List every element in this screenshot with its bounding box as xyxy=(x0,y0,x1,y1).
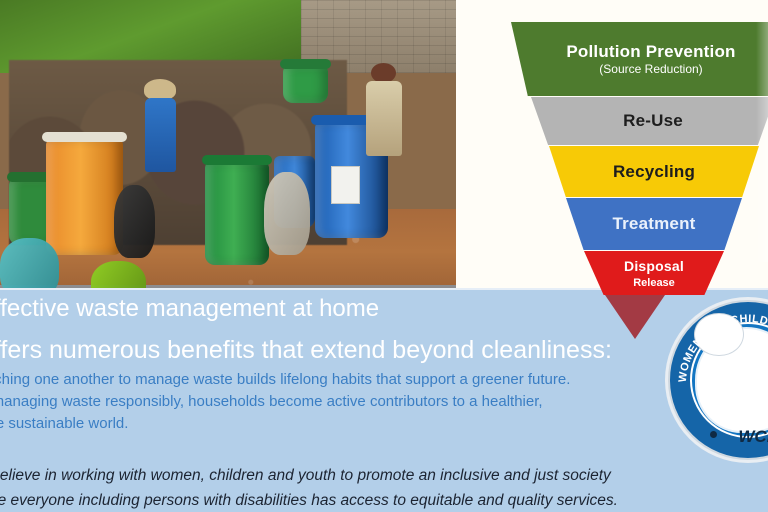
logo-bullet-dot xyxy=(710,431,717,438)
headline-line-2: offers numerous benefits that extend bey… xyxy=(0,333,680,367)
photo-person-torso xyxy=(145,98,176,172)
wch-organisation-logo: HEALTH WITH DIGNITY WOMEN AND CHILDREN H… xyxy=(668,300,768,460)
pyramid-level-label: Pollution Prevention xyxy=(566,42,735,62)
pyramid-level-recycling: Recycling xyxy=(549,146,759,197)
photo-person-hat xyxy=(144,79,176,99)
svg-text:WOMEN AND CHILDREN HEALTH: WOMEN AND CHILDREN HEALTH xyxy=(677,313,768,383)
waste-dump-photo xyxy=(0,0,456,331)
slide-canvas: Pollution Prevention (Source Reduction) … xyxy=(0,0,768,512)
photo-bin-green-mid xyxy=(205,162,269,265)
pyramid-level-disposal: Disposal Release xyxy=(584,251,724,295)
mission-statement: We believe in working with women, childr… xyxy=(0,463,724,512)
logo-acronym: WCH xyxy=(738,427,768,447)
photo-bin-green-top xyxy=(283,66,329,102)
pyramid-level-label: Disposal xyxy=(624,256,684,276)
mission-line-1: We believe in working with women, childr… xyxy=(0,463,724,488)
pyramid-level-treatment: Treatment xyxy=(566,198,742,250)
photo-bin-lid xyxy=(202,155,272,165)
photo-person-head xyxy=(371,63,396,83)
photo-bin-orange xyxy=(46,139,124,255)
photo-bin-label-sticker xyxy=(331,166,360,204)
mission-line-2: where everyone including persons with di… xyxy=(0,488,724,512)
benefits-line-2: By managing waste responsibly, household… xyxy=(0,391,710,413)
photo-bag-black xyxy=(114,185,155,258)
photo-bin-lid xyxy=(42,132,127,142)
logo-ring-text: WOMEN AND CHILDREN HEALTH xyxy=(677,313,768,383)
pyramid-level-sublabel: (Source Reduction) xyxy=(599,62,702,77)
photo-bag-grey xyxy=(264,172,310,255)
pyramid-level-label: Re-Use xyxy=(623,111,683,131)
pyramid-level-sublabel: Release xyxy=(633,276,675,291)
pyramid-level-label: Treatment xyxy=(612,214,695,234)
pyramid-level-label: Recycling xyxy=(613,162,695,182)
waste-hierarchy-pyramid: Pollution Prevention (Source Reduction) … xyxy=(456,0,768,295)
benefits-body-text: Teaching one another to manage waste bui… xyxy=(0,369,710,435)
photo-person-right xyxy=(365,63,406,156)
benefits-line-3: more sustainable world. xyxy=(0,413,710,435)
pyramid-level-pollution-prevention: Pollution Prevention (Source Reduction) xyxy=(511,22,768,96)
photo-person-torso xyxy=(366,81,401,155)
headline-line-1: Effective waste management at home xyxy=(0,292,478,326)
pyramid-level-re-use: Re-Use xyxy=(531,97,768,145)
benefits-line-1: Teaching one another to manage waste bui… xyxy=(0,369,710,391)
photo-bin-lid xyxy=(280,59,330,69)
photo-person-blue-shirt xyxy=(141,79,182,172)
